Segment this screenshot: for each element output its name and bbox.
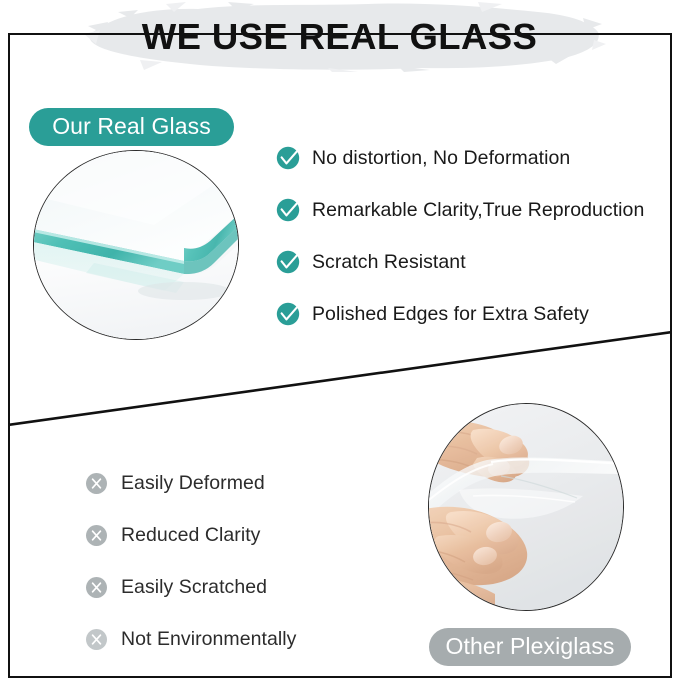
- list-item-label: Reduced Clarity: [121, 524, 260, 547]
- badge-other-plexiglass: Other Plexiglass: [429, 628, 631, 666]
- list-item-label: Easily Deformed: [121, 472, 265, 495]
- list-item-label: Not Environmentally: [121, 628, 296, 651]
- advantages-list: No distortion, No Deformation Remarkable…: [276, 132, 644, 340]
- list-item: No distortion, No Deformation: [276, 132, 644, 184]
- list-item-label: Scratch Resistant: [312, 251, 466, 274]
- x-circle-icon: [86, 629, 107, 650]
- hands-bending-plexiglass-photo: [428, 403, 624, 611]
- page-title: WE USE REAL GLASS: [0, 16, 679, 58]
- check-circle-icon: [276, 146, 300, 170]
- x-circle-icon: [86, 525, 107, 546]
- check-circle-icon: [276, 250, 300, 274]
- check-circle-icon: [276, 198, 300, 222]
- x-circle-icon: [86, 577, 107, 598]
- list-item: Not Environmentally: [86, 613, 296, 665]
- list-item: Scratch Resistant: [276, 236, 644, 288]
- list-item: Easily Scratched: [86, 561, 296, 613]
- list-item: Remarkable Clarity,True Reproduction: [276, 184, 644, 236]
- product-comparison-infographic: WE USE REAL GLASS Our Real Glass: [0, 0, 679, 691]
- real-glass-corner-photo: [33, 150, 239, 340]
- list-item-label: No distortion, No Deformation: [312, 147, 570, 170]
- x-circle-icon: [86, 473, 107, 494]
- list-item: Reduced Clarity: [86, 509, 296, 561]
- disadvantages-list: Easily Deformed Reduced Clarity Easily S…: [86, 457, 296, 665]
- list-item-label: Remarkable Clarity,True Reproduction: [312, 199, 644, 222]
- list-item-label: Polished Edges for Extra Safety: [312, 303, 589, 326]
- badge-our-real-glass: Our Real Glass: [29, 108, 234, 146]
- list-item: Easily Deformed: [86, 457, 296, 509]
- list-item: Polished Edges for Extra Safety: [276, 288, 644, 340]
- list-item-label: Easily Scratched: [121, 576, 267, 599]
- check-circle-icon: [276, 302, 300, 326]
